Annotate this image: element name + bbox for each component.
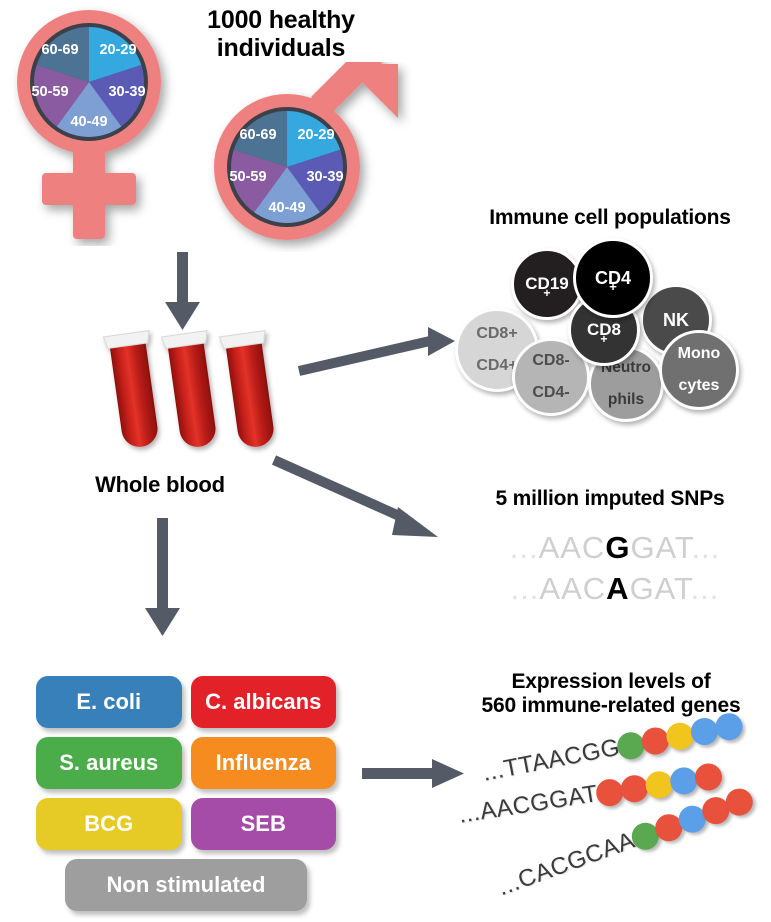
snp-row-2: ...AACAGAT... [470,569,760,610]
stimulus-seb[interactable]: SEB [191,798,337,850]
bubble-nk-label: NK [663,311,689,329]
bead [693,761,724,792]
stimulus-s-aureus[interactable]: S. aureus [36,737,182,789]
snp-variant: A [606,571,629,606]
snp-title: 5 million imputed SNPs [455,487,765,511]
arrow-cohort-to-blood [160,252,210,332]
arrow-blood-to-snp [270,455,445,545]
bead [713,710,745,742]
snp-variant: G [605,530,630,565]
bead [643,769,674,800]
bubble-cd19p: CD19+ [511,248,583,320]
snp-sequences: ...AACGGAT... ...AACAGAT... [470,528,760,610]
snp-prefix: ... [511,571,540,606]
pie-label-60-69: 60-69 [239,127,276,143]
expression-strands: ...TTAACGG ...AACGGAT ...CACGCAA [455,720,771,910]
male-symbol: 20-29 30-39 40-49 50-59 60-69 [202,62,417,252]
bubble-monocytes: Mono cytes [659,330,739,410]
arrow-blood-to-immune [295,325,460,380]
bead [618,773,649,804]
stimulus-non-stimulated[interactable]: Non stimulated [65,859,307,911]
blood-tube-2 [161,331,222,450]
snp-right: GAT [630,571,691,606]
stimulus-bcg[interactable]: BCG [36,798,182,850]
bubble-cd19p-label: CD19+ [525,275,568,292]
stimuli-row-1: E. coli C. albicans [36,676,336,728]
pie-label-40-49: 40-49 [268,200,305,216]
stimuli-panel: E. coli C. albicans S. aureus Influenza … [36,676,336,911]
immune-title: Immune cell populations [455,206,765,230]
stimulus-e-coli[interactable]: E. coli [36,676,182,728]
arrow-stimuli-to-expression [362,755,467,795]
stimulus-influenza[interactable]: Influenza [191,737,337,789]
snp-left: AAC [539,571,606,606]
expression-title: Expression levels of 560 immune-related … [455,670,767,717]
stimulus-c-albicans[interactable]: C. albicans [191,676,337,728]
stimuli-row-3: BCG SEB [36,798,336,850]
stimuli-row-2: S. aureus Influenza [36,737,336,789]
bubble-cd8n-cd4n-label: CD8- CD4- [532,353,569,402]
snp-suffix: ... [691,571,720,606]
bubble-cd8p-label: CD8+ [587,321,621,338]
expression-title-line1: Expression levels of [455,670,767,694]
bubble-cd8p-cd4p-label: CD8+ CD4+ [476,326,517,375]
female-symbol: 20-29 30-39 40-49 50-59 60-69 [2,6,202,246]
pie-label-30-39: 30-39 [306,169,343,185]
blood-tube-1 [103,331,164,450]
pie-label-50-59: 50-59 [229,169,266,185]
bubble-neutrophils-label: Neutro phils [601,360,651,407]
bead [668,765,699,796]
pie-label-20-29: 20-29 [99,42,136,58]
snp-prefix: ... [510,530,539,565]
bubble-cd4p: CD4+ [573,238,653,318]
strand-3-sequence: ...CACGCAA [494,827,639,902]
blood-tube-3 [219,331,280,450]
pie-label-50-59: 50-59 [31,84,68,100]
bubble-monocytes-label: Mono cytes [678,346,721,395]
pie-label-30-39: 30-39 [108,84,145,100]
whole-blood-label: Whole blood [60,473,260,498]
pie-label-60-69: 60-69 [41,42,78,58]
snp-right: GAT [630,530,691,565]
strand-2-sequence: ...AACGGAT [457,780,600,830]
immune-cell-bubbles: CD8+ CD4+ CD19+ CD4+ NK CD8+ [455,238,765,416]
snp-suffix: ... [691,530,720,565]
figure-canvas: 1000 healthy individuals [0,0,771,922]
pie-label-40-49: 40-49 [70,114,107,130]
arrow-blood-to-stimuli [140,518,190,638]
pie-label-20-29: 20-29 [297,127,334,143]
snp-left: AAC [539,530,606,565]
bubble-cd4p-label: CD4+ [595,269,631,287]
snp-row-1: ...AACGGAT... [470,528,760,569]
blood-tubes [95,330,285,470]
